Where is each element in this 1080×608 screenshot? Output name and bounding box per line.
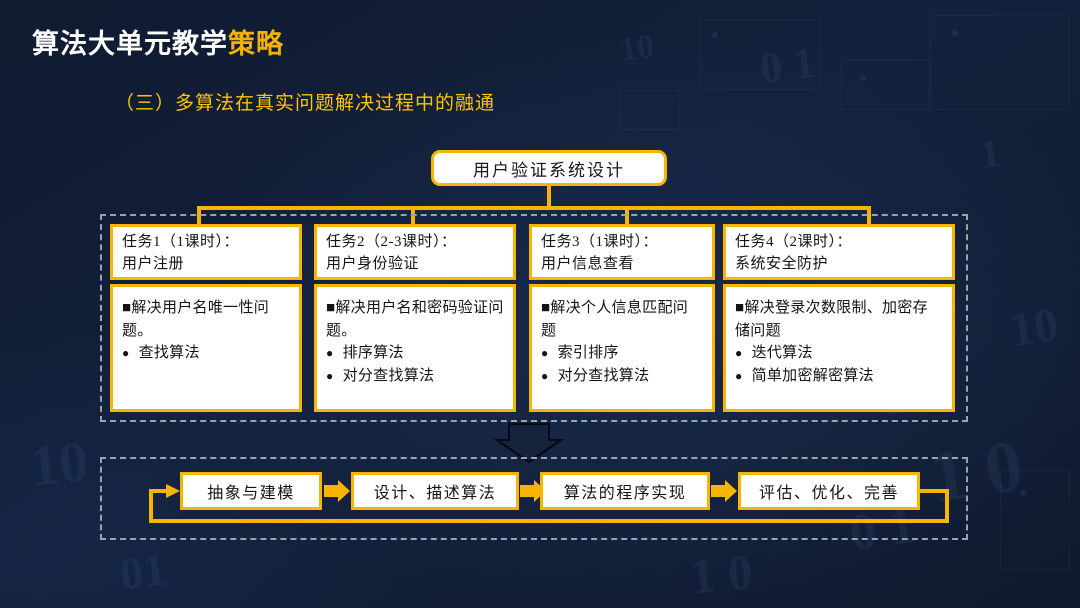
root-node-user-auth-system[interactable]: 用户验证系统设计 [431,150,667,186]
flow-step-2-design-describe-algorithm[interactable]: 设计、描述算法 [351,472,519,510]
flow-step-1-abstraction-modeling[interactable]: 抽象与建模 [180,472,322,510]
task-3-header: 任务3（1课时）： 用户信息查看 [529,224,715,280]
task-2-header-line2: 用户身份验证 [326,254,504,276]
task-1-problem: ■解决用户名唯一性问题。 [122,297,290,342]
bullet-icon: ● [326,342,334,364]
task-4-algorithm-1: 迭代算法 [752,342,813,365]
bullet-icon: ● [541,365,549,387]
bullet-icon: ● [541,342,549,364]
task-2-header: 任务2（2-3课时）： 用户身份验证 [314,224,516,280]
task-2-algorithm-item: ● 排序算法 [326,342,504,365]
task-4-header-line2: 系统安全防护 [735,254,943,276]
algorithm-teaching-diagram: 用户验证系统设计 任务1（1课时）： 用户注册 ■解决用户名唯一性问题。 ● 查… [0,0,1080,608]
task-column-1[interactable]: 任务1（1课时）： 用户注册 ■解决用户名唯一性问题。 ● 查找算法 [110,224,302,412]
task-3-algorithm-1: 索引排序 [558,342,619,365]
task-column-2[interactable]: 任务2（2-3课时）： 用户身份验证 ■解决用户名和密码验证问题。 ● 排序算法… [314,224,516,412]
task-3-body: ■解决个人信息匹配问题 ● 索引排序 ● 对分查找算法 [529,284,715,412]
task-2-algorithm-1: 排序算法 [343,342,404,365]
task-1-algorithm-1: 查找算法 [139,342,200,365]
task-4-algorithm-item: ● 简单加密解密算法 [735,365,943,388]
task-1-algorithm-item: ● 查找算法 [122,342,290,365]
task-column-3[interactable]: 任务3（1课时）： 用户信息查看 ■解决个人信息匹配问题 ● 索引排序 ● 对分… [529,224,715,412]
task-4-algorithm-2: 简单加密解密算法 [752,365,874,388]
task-3-header-line2: 用户信息查看 [541,254,703,276]
task-4-problem: ■解决登录次数限制、加密存储问题 [735,297,943,342]
task-1-body: ■解决用户名唯一性问题。 ● 查找算法 [110,284,302,412]
flow-step-4-evaluate-optimize-improve[interactable]: 评估、优化、完善 [738,472,920,510]
task-1-header: 任务1（1课时）： 用户注册 [110,224,302,280]
task-3-algorithm-item: ● 对分查找算法 [541,365,703,388]
task-2-problem: ■解决用户名和密码验证问题。 [326,297,504,342]
bullet-icon: ● [735,342,743,364]
bullet-icon: ● [326,365,334,387]
task-4-body: ■解决登录次数限制、加密存储问题 ● 迭代算法 ● 简单加密解密算法 [723,284,955,412]
task-3-algorithm-item: ● 索引排序 [541,342,703,365]
task-3-problem: ■解决个人信息匹配问题 [541,297,703,342]
task-3-algorithm-2: 对分查找算法 [558,365,650,388]
task-2-body: ■解决用户名和密码验证问题。 ● 排序算法 ● 对分查找算法 [314,284,516,412]
task-4-header-line1: 任务4（2课时）： [735,232,943,254]
task-3-header-line1: 任务3（1课时）： [541,232,703,254]
flow-step-3-program-implementation[interactable]: 算法的程序实现 [540,472,710,510]
task-column-4[interactable]: 任务4（2课时）： 系统安全防护 ■解决登录次数限制、加密存储问题 ● 迭代算法… [723,224,955,412]
bullet-icon: ● [122,342,130,364]
task-4-header: 任务4（2课时）： 系统安全防护 [723,224,955,280]
task-4-algorithm-item: ● 迭代算法 [735,342,943,365]
task-2-algorithm-2: 对分查找算法 [343,365,435,388]
task-1-header-line2: 用户注册 [122,254,290,276]
task-2-header-line1: 任务2（2-3课时）： [326,232,504,254]
bullet-icon: ● [735,365,743,387]
task-1-header-line1: 任务1（1课时）： [122,232,290,254]
task-2-algorithm-item: ● 对分查找算法 [326,365,504,388]
